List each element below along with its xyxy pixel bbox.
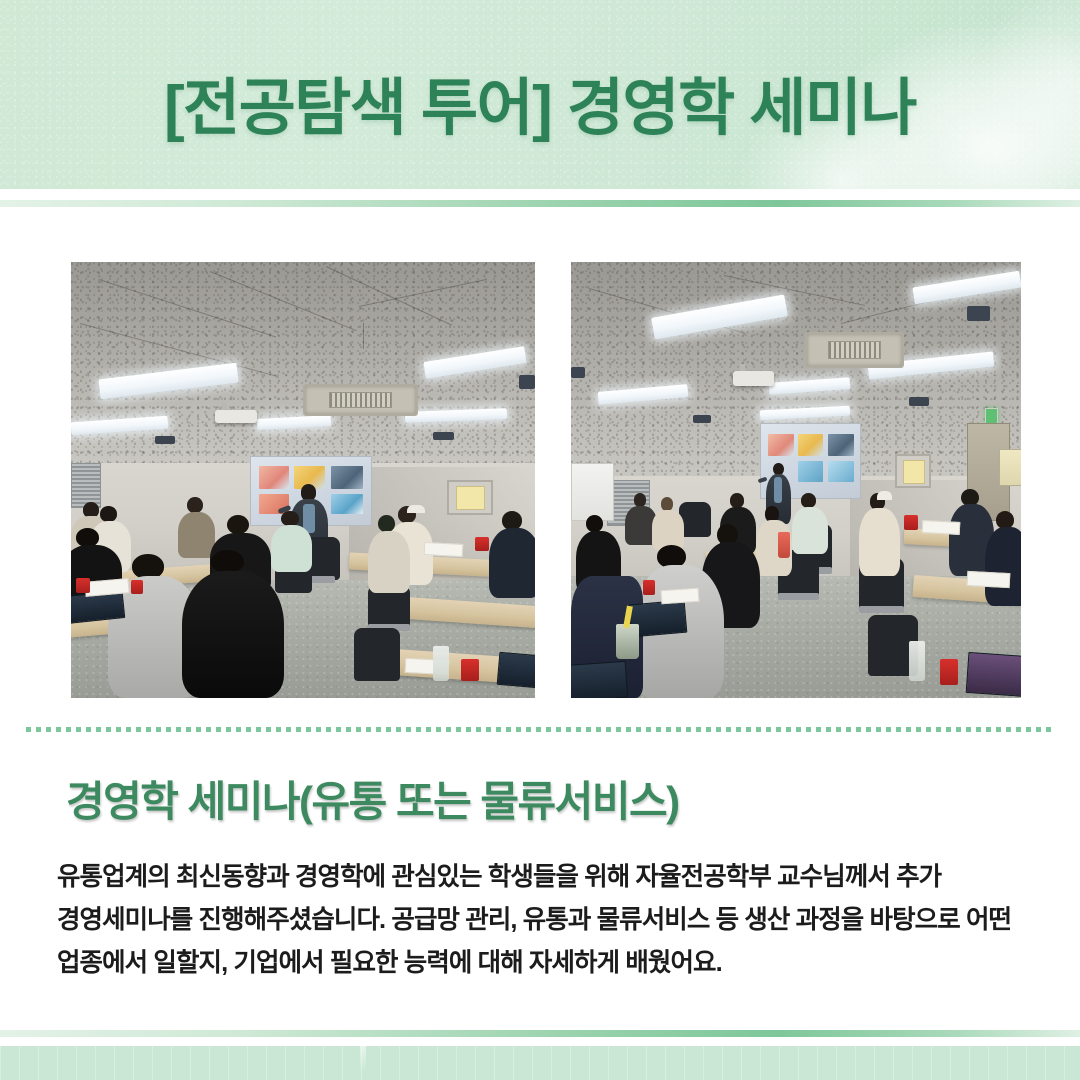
beverage-bottle (778, 532, 790, 558)
laptop (497, 652, 535, 689)
slide-image (828, 461, 854, 482)
drink-cup (616, 624, 639, 659)
water-bottle (433, 646, 449, 681)
slide-image (798, 434, 824, 456)
laptop (571, 661, 628, 698)
wall-poster (999, 449, 1022, 486)
beverage-can (131, 580, 143, 594)
wall-speaker (693, 415, 711, 424)
photo-left-scene (71, 262, 535, 698)
beverage-can (76, 578, 90, 593)
name-card (967, 570, 1010, 587)
wall-control-panel (895, 454, 931, 489)
wall-speaker (967, 306, 990, 322)
student-foreground (182, 550, 284, 698)
lecture-photo-right (571, 262, 1021, 698)
photo-right-scene (571, 262, 1021, 698)
divider-rule-bottom (0, 1030, 1080, 1037)
name-card (423, 542, 463, 557)
wall-speaker (155, 436, 176, 444)
whiteboard (571, 463, 614, 522)
ceiling-ac-vent (303, 384, 418, 416)
dotted-divider (26, 727, 1053, 732)
header-band: [전공탐색 투어] 경영학 세미나 (0, 0, 1080, 189)
body-paragraph: 유통업계의 최신동향과 경영학에 관심있는 학생들을 위해 자율전공학부 교수님… (57, 856, 1057, 985)
wall-speaker (519, 375, 535, 389)
poster-canvas: [전공탐색 투어] 경영학 세미나 (0, 0, 1080, 1080)
slide-image (331, 466, 362, 489)
divider-rule-top (0, 200, 1080, 207)
lecture-photo-left (71, 262, 535, 698)
student (489, 511, 535, 598)
student (859, 493, 900, 576)
student (792, 493, 828, 554)
student (985, 511, 1021, 607)
laptop (966, 652, 1021, 697)
student (368, 515, 410, 593)
slide-image (798, 461, 824, 482)
student (652, 497, 684, 549)
ceiling-projector (215, 410, 257, 423)
page-title: [전공탐색 투어] 경영학 세미나 (0, 0, 1080, 189)
wall-speaker (433, 432, 454, 440)
beverage-can (940, 659, 958, 685)
wall-control-panel (447, 480, 493, 515)
name-card (661, 588, 700, 605)
slide-image (828, 434, 854, 456)
wall-speaker (909, 397, 929, 406)
wall-speaker (571, 367, 585, 378)
exit-sign (985, 408, 998, 424)
beverage-can (461, 659, 480, 681)
water-bottle (909, 641, 925, 680)
ceiling-ac-vent (805, 332, 904, 369)
ceiling-projector (733, 371, 774, 386)
slide-image (331, 494, 362, 514)
ceiling-tile-line (363, 323, 364, 349)
beverage-can (475, 537, 489, 552)
beverage-can (643, 580, 655, 595)
footer-band (0, 1046, 1080, 1080)
slide-image (259, 466, 289, 489)
slide-image (768, 434, 794, 456)
name-card (922, 520, 961, 535)
beverage-can (904, 515, 918, 530)
section-subtitle: 경영학 세미나(유통 또는 물류서비스) (66, 768, 1046, 829)
classroom-chair (354, 628, 400, 680)
